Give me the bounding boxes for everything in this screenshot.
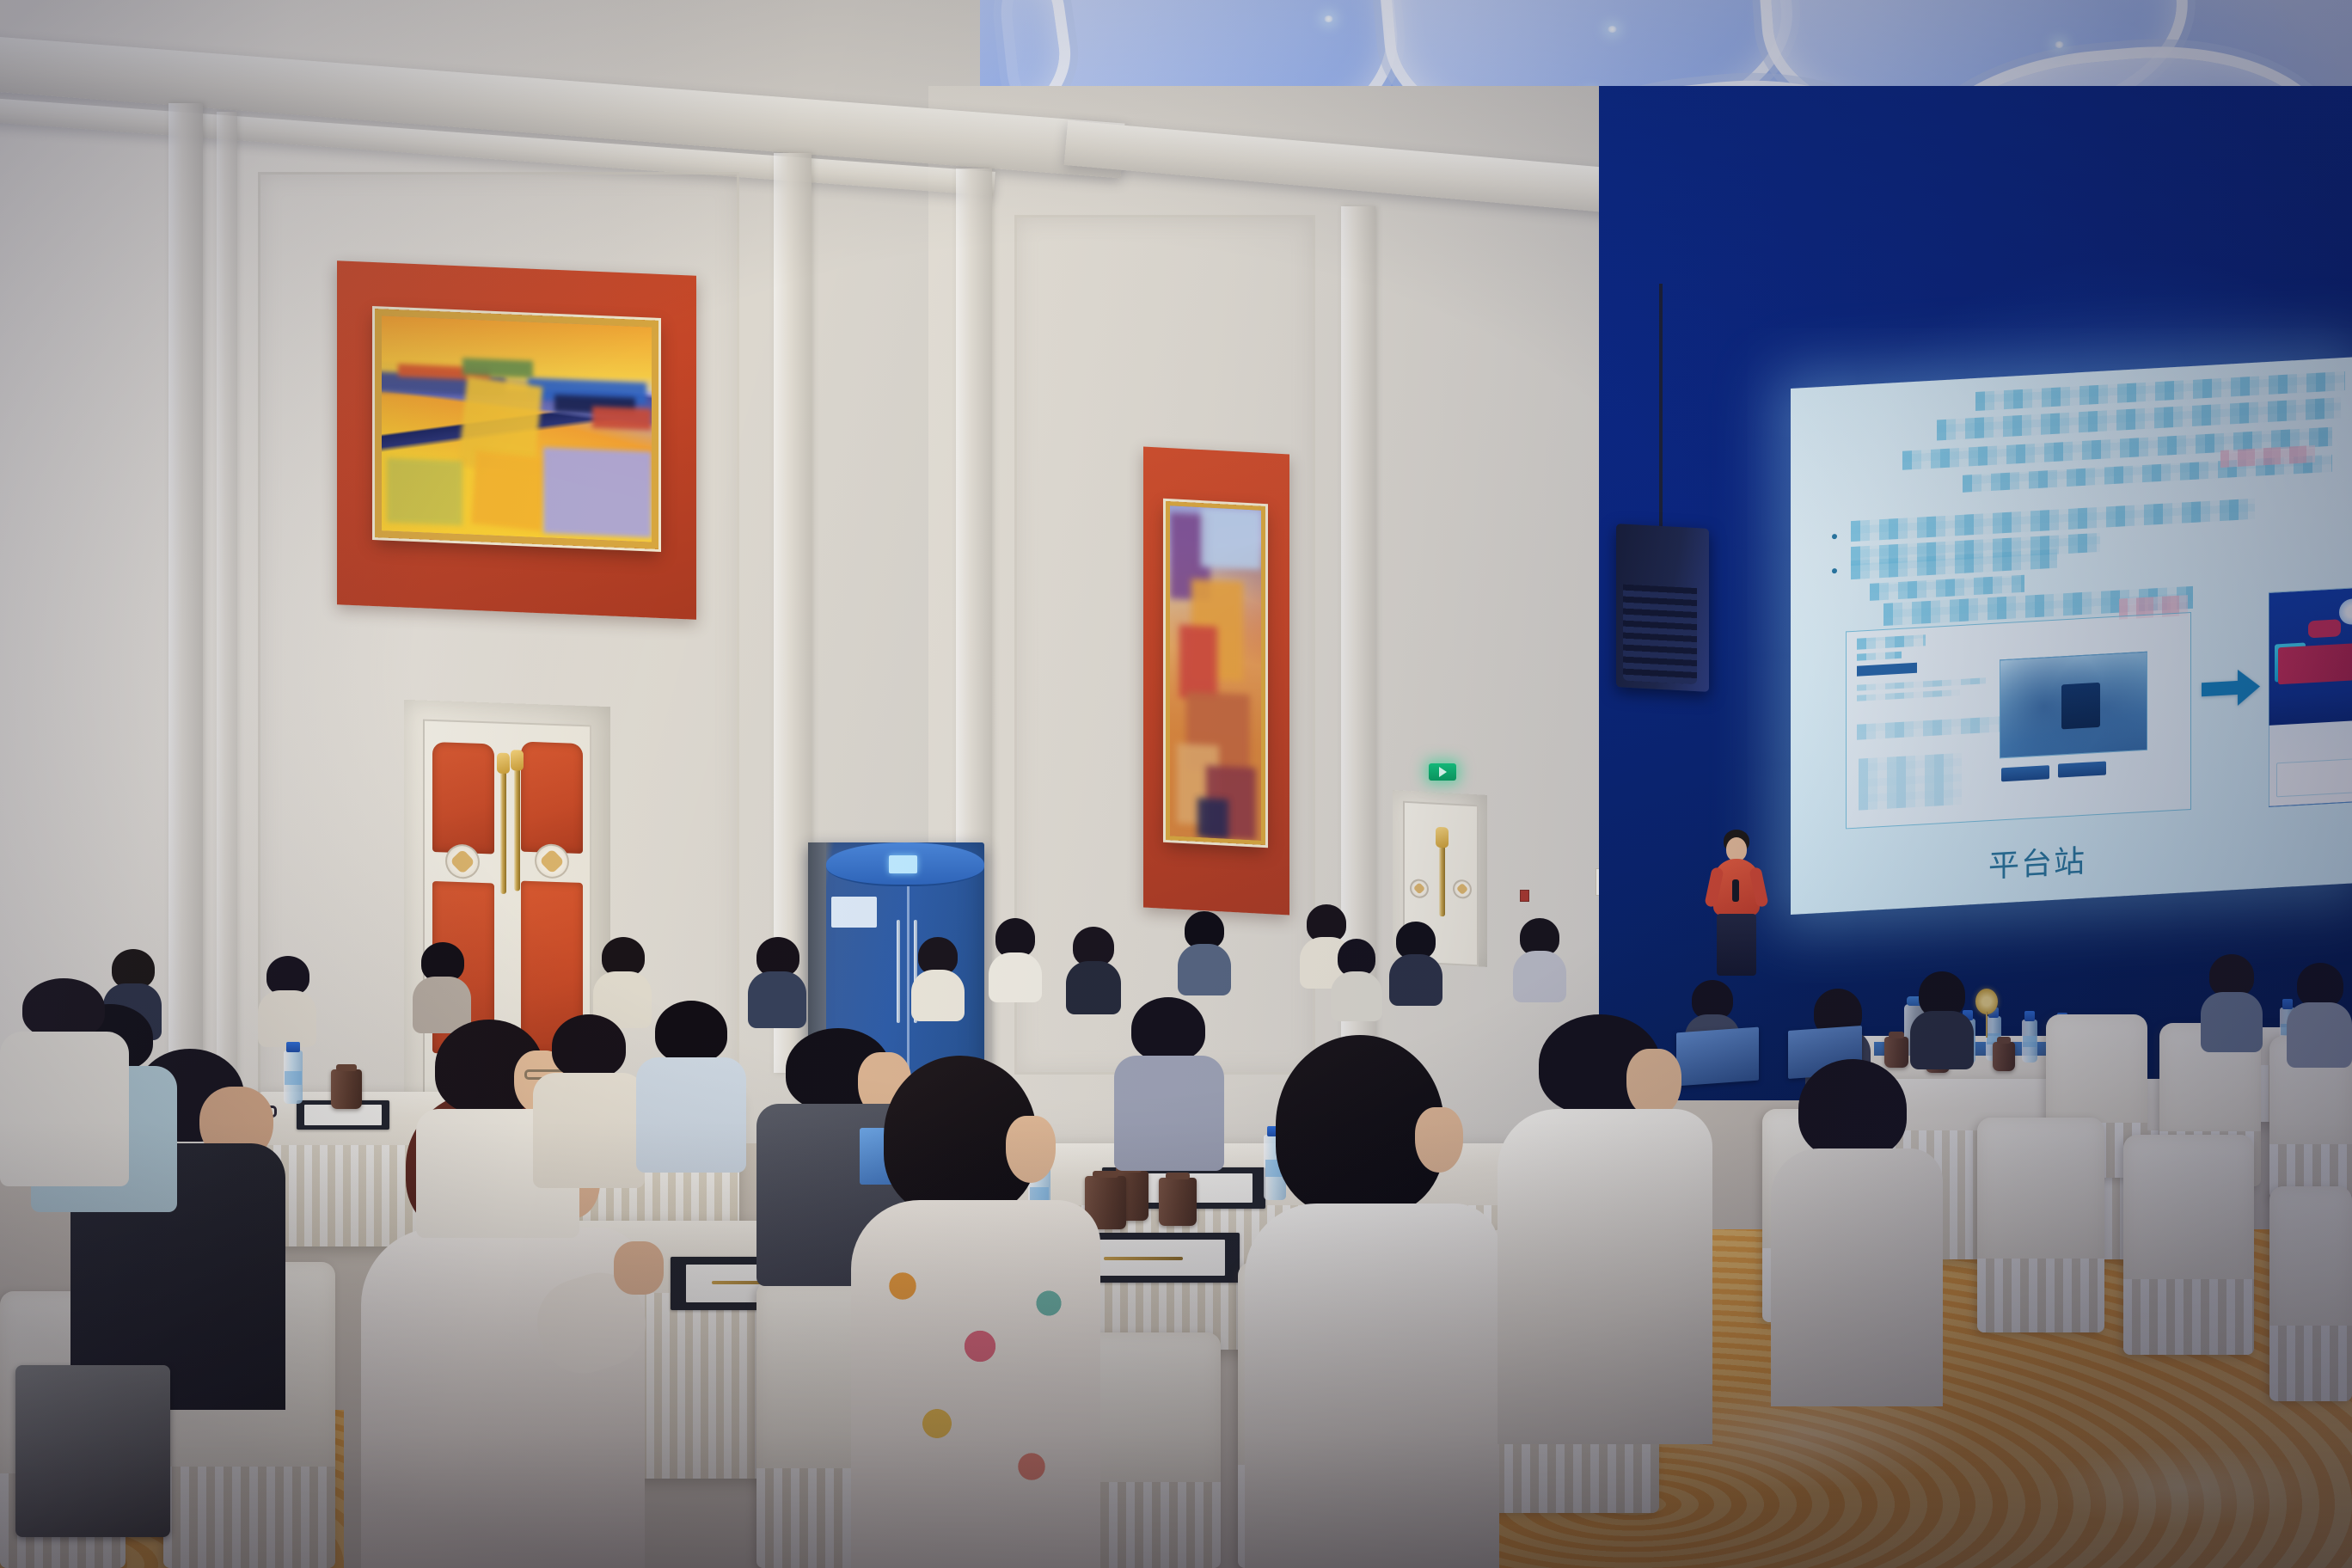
attendee-hand	[614, 1241, 664, 1295]
attendee-torso	[1114, 1056, 1224, 1171]
table-number-disc	[1975, 989, 1998, 1014]
door-handle-right[interactable]	[514, 762, 520, 891]
clay-teapot-mug	[1993, 1042, 2015, 1071]
attendee-torso	[533, 1073, 645, 1188]
attendee-hair	[552, 1014, 626, 1078]
attendee	[842, 1056, 1100, 1568]
attendee-face	[1626, 1049, 1681, 1118]
attendee-torso	[851, 1200, 1100, 1568]
door-medallion-left	[445, 843, 480, 879]
presenter-skirt	[1717, 914, 1756, 976]
table-number-stand	[1975, 989, 1998, 1035]
attendee-torso	[258, 990, 316, 1047]
attendee	[636, 1001, 746, 1173]
shot-title-blur	[1857, 634, 1926, 649]
exit-sign	[1429, 763, 1456, 781]
vertical-abstract-painting	[1166, 501, 1265, 845]
clay-teapot-mug	[331, 1069, 362, 1109]
shot-body-blur-1	[1857, 677, 1986, 690]
chair-pleat	[2123, 1279, 2254, 1355]
fridge-display	[889, 855, 917, 873]
attendee-torso	[2287, 1002, 2352, 1068]
attendee	[1178, 911, 1231, 994]
presenter	[1706, 830, 1767, 976]
slide-bullet-1	[1832, 534, 1837, 539]
attendee	[0, 978, 129, 1185]
door-panel-left	[432, 742, 494, 854]
attendee-face	[1415, 1107, 1463, 1173]
running-person-icon	[1439, 767, 1447, 777]
app-bottom-card	[2276, 758, 2352, 798]
water-bottle	[284, 1050, 303, 1104]
attendee-torso	[2201, 992, 2263, 1052]
chair-cover	[2123, 1135, 2254, 1355]
chair-cover	[1977, 1118, 2104, 1332]
attendee	[1513, 918, 1566, 1001]
shot-button-primary[interactable]	[2001, 765, 2049, 781]
fire-alarm-box	[1520, 890, 1529, 902]
app-logo-icon	[2339, 598, 2352, 626]
backpack	[15, 1365, 170, 1537]
shot-photo-thumbnail	[2000, 652, 2147, 759]
attendee-torso	[636, 1057, 746, 1173]
attendee	[1771, 1059, 1943, 1403]
slide-bullet-2	[1832, 568, 1837, 573]
attendee	[1910, 971, 1974, 1066]
attendee-hair	[1131, 997, 1205, 1061]
attendee	[1389, 922, 1442, 1004]
attendee-torso	[1178, 944, 1231, 995]
line-array-loudspeaker	[1616, 524, 1709, 692]
attendee	[1245, 1035, 1499, 1568]
pilaster-2	[217, 112, 237, 1118]
attendee	[1331, 939, 1382, 1021]
chair-pleat	[163, 1467, 335, 1568]
attendee-hair	[1798, 1059, 1907, 1159]
attendee-torso	[1066, 961, 1121, 1014]
attendee	[1114, 997, 1224, 1169]
attendee-hair	[2297, 963, 2343, 1008]
service-door-handle[interactable]	[1439, 839, 1445, 916]
water-bottle	[2022, 1020, 2037, 1063]
attendee	[2201, 954, 2263, 1049]
pilaster-3	[774, 153, 812, 1073]
chair-pleat	[1977, 1259, 2104, 1332]
attendee-hair	[2209, 954, 2254, 997]
attendee-torso	[1771, 1148, 1943, 1406]
conference-hall-photo: 平台站	[0, 0, 2352, 1568]
door-panel-right	[521, 742, 583, 854]
attendee	[1498, 1014, 1712, 1444]
attendee-torso	[911, 970, 965, 1021]
shot-tag-blur	[1857, 663, 1917, 677]
shot-sub-blur	[1857, 652, 1902, 661]
attendee-torso	[1498, 1109, 1712, 1444]
attendee-hair	[22, 978, 105, 1038]
slide-caption: 平台站	[1988, 836, 2086, 886]
attendee	[258, 956, 316, 1045]
shot-list-blur	[1859, 753, 1962, 811]
attendee-torso	[1513, 951, 1566, 1002]
chair-cover	[2269, 1186, 2352, 1401]
attendee	[413, 942, 471, 1032]
shot-body-blur-2	[1857, 689, 1960, 701]
attendee-face	[1006, 1116, 1056, 1183]
attendee-torso	[0, 1032, 129, 1186]
service-door-medallion-left	[1410, 879, 1429, 898]
attendee-torso	[1389, 954, 1442, 1006]
attendee	[989, 918, 1042, 1001]
attendee-torso	[748, 971, 806, 1028]
blue-arrow-icon	[2202, 668, 2260, 707]
attendee-torso	[1245, 1204, 1499, 1568]
presenter-head	[1726, 837, 1747, 861]
door-handle-left[interactable]	[500, 765, 506, 894]
attendee	[2287, 963, 2352, 1066]
speaker-suspension-cable	[1659, 284, 1663, 542]
service-door-medallion-right	[1453, 879, 1472, 899]
gold-pen	[1104, 1257, 1183, 1260]
clay-teapot-mug	[1159, 1178, 1197, 1226]
attendee-torso	[989, 952, 1042, 1002]
chair-pleat	[2269, 1326, 2352, 1401]
attendee	[748, 937, 806, 1026]
projection-screen: 平台站	[1791, 357, 2352, 915]
landscape-painting	[375, 309, 658, 549]
mobile-app-screenshot	[2269, 586, 2352, 807]
app-tag-pill	[2308, 619, 2341, 638]
door-medallion-right	[535, 843, 569, 879]
table-number-stem	[1986, 1012, 1988, 1038]
attendee	[911, 937, 965, 1020]
app-promo-banner	[2278, 643, 2352, 684]
webpage-screenshot	[1846, 612, 2191, 829]
attendee	[1066, 927, 1121, 1013]
attendee-hair	[655, 1001, 727, 1063]
attendee-torso	[1331, 971, 1382, 1021]
pilaster-1	[168, 103, 203, 1118]
fridge-handle-left[interactable]	[897, 920, 900, 1023]
shot-stat-blur	[1857, 716, 2012, 740]
handheld-microphone	[1732, 879, 1739, 902]
attendee	[533, 1014, 645, 1186]
shot-button-secondary[interactable]	[2058, 761, 2106, 777]
fridge-label	[831, 897, 877, 928]
